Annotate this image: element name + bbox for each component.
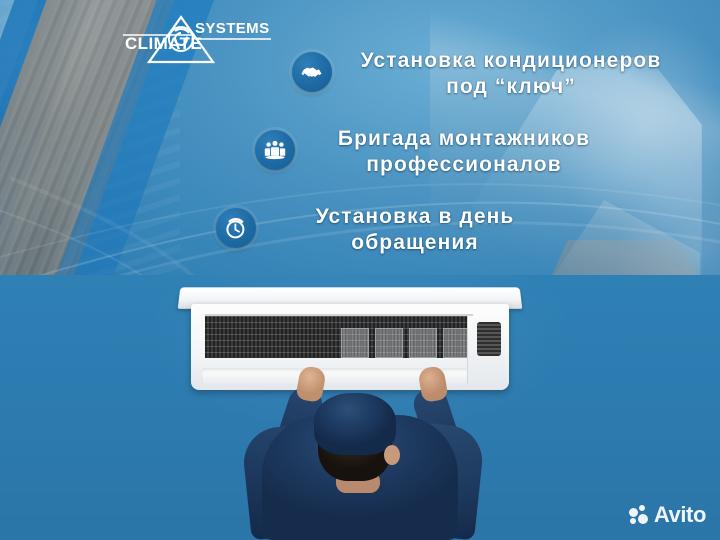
feature-item-professional-team: Бригада монтажников профессионалов <box>0 126 700 178</box>
avito-watermark: Avito <box>629 504 706 526</box>
logo-text-systems: SYSTEMS <box>195 20 269 37</box>
technician <box>0 275 720 540</box>
group-people-icon <box>255 130 295 170</box>
feature-list: Установка кондиционеров под “ключ” Брига… <box>0 48 700 282</box>
feature-text: Бригада монтажников профессионалов <box>309 126 619 178</box>
avito-wordmark: Avito <box>654 504 706 526</box>
installation-photo <box>0 275 720 540</box>
handshake-icon <box>292 52 332 92</box>
feature-text: Установка в день обращения <box>270 204 560 256</box>
feature-item-same-day-installation: Установка в день обращения <box>0 204 700 256</box>
avito-dots-icon <box>629 505 649 525</box>
clock-arrow-icon <box>216 208 256 248</box>
feature-item-turnkey-installation: Установка кондиционеров под “ключ” <box>0 48 700 100</box>
technician-left-hand <box>295 365 327 403</box>
technician-cap <box>314 393 396 455</box>
advertisement-banner: CLIMATE SYSTEMS Установка кондиционеров … <box>0 0 720 540</box>
feature-text: Установка кондиционеров под “ключ” <box>346 48 676 100</box>
technician-ear <box>384 445 400 465</box>
